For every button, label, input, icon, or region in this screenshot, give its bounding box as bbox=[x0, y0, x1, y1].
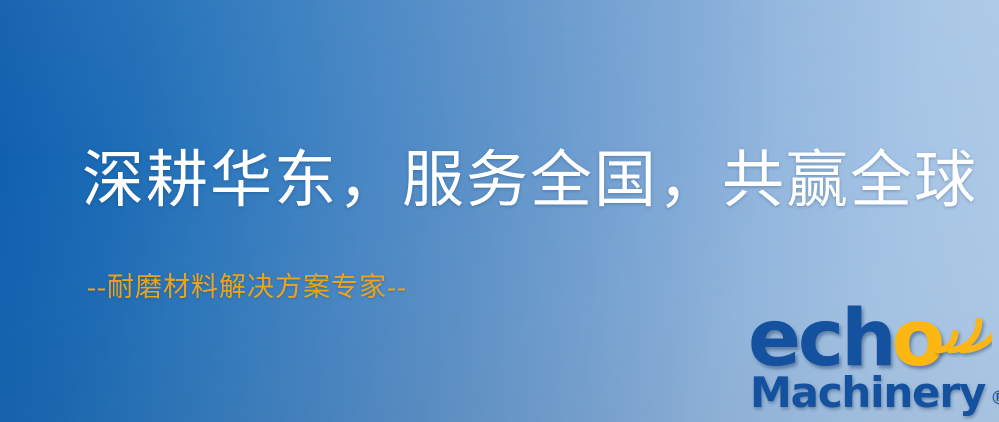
logo-tagline-row: Machinery ® bbox=[750, 372, 999, 414]
promo-banner: 深耕华东，服务全国，共赢全球 --耐磨材料解决方案专家-- ech o Mach… bbox=[0, 0, 999, 422]
signal-waves-icon bbox=[930, 296, 992, 358]
registered-trademark-symbol: ® bbox=[990, 387, 999, 409]
logo-wordmark: ech o bbox=[748, 300, 942, 372]
echo-machinery-logo[interactable]: ech o Machinery ® bbox=[748, 300, 996, 418]
banner-subheadline: --耐磨材料解决方案专家-- bbox=[87, 265, 407, 304]
logo-tagline-text: Machinery bbox=[750, 372, 985, 414]
banner-headline: 深耕华东，服务全国，共赢全球 bbox=[82, 149, 942, 214]
logo-wordmark-blue-text: ech bbox=[748, 308, 894, 372]
